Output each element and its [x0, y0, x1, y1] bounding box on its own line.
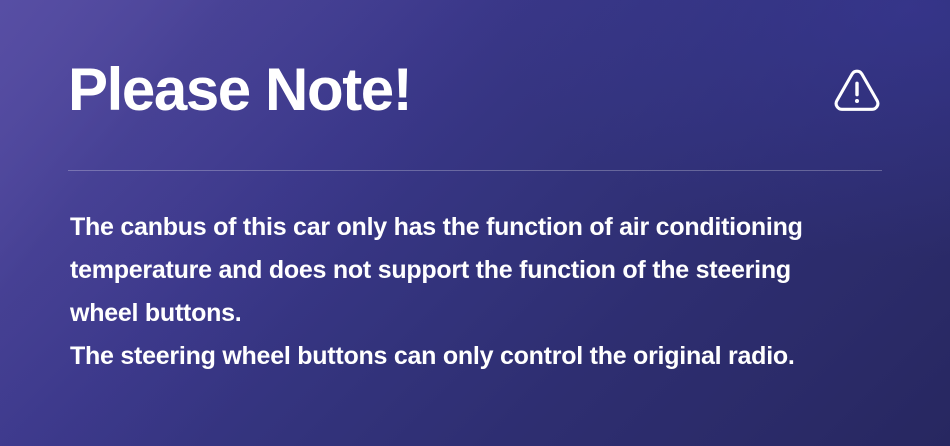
page-title: Please Note! — [68, 54, 411, 126]
notice-body-line: temperature and does not support the fun… — [70, 249, 890, 292]
notice-body-line: The canbus of this car only has the func… — [70, 206, 890, 249]
notice-body: The canbus of this car only has the func… — [70, 206, 890, 378]
please-note-banner: Please Note! The canbus of this car only… — [0, 0, 950, 446]
warning-triangle-icon — [832, 65, 884, 115]
notice-header: Please Note! — [68, 52, 884, 128]
notice-body-line: wheel buttons. — [70, 292, 890, 335]
header-divider — [68, 170, 882, 171]
notice-body-line: The steering wheel buttons can only cont… — [70, 335, 890, 378]
